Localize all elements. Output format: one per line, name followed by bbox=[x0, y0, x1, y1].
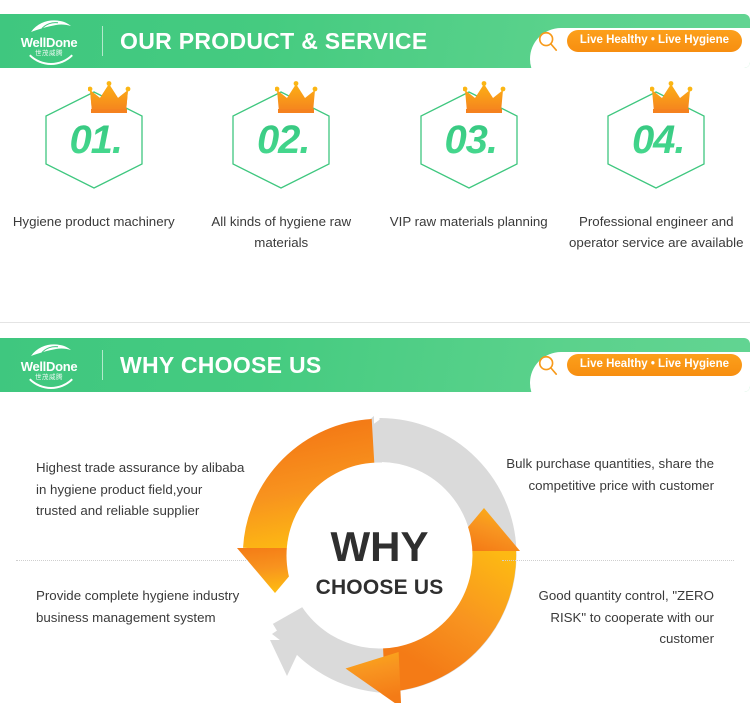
section-header-product-service: WellDone 世茂威腾 OUR PRODUCT & SERVICE Live… bbox=[0, 14, 750, 68]
dotted-divider-right bbox=[502, 560, 734, 562]
section-header-why-choose-us: WellDone 世茂威腾 WHY CHOOSE US Live Healthy… bbox=[0, 338, 750, 392]
blurb-bottom-right: Good quantity control, "ZERO RISK" to co… bbox=[502, 585, 714, 650]
card-caption: VIP raw materials planning bbox=[390, 212, 548, 233]
blurb-top-right: Bulk purchase quantities, share the comp… bbox=[502, 453, 714, 496]
hex-badge: 03. bbox=[417, 84, 521, 196]
header-divider bbox=[102, 350, 103, 380]
wheel-subtitle: CHOOSE US bbox=[316, 577, 444, 598]
wheel-title: WHY bbox=[331, 526, 429, 568]
page-root: WellDone 世茂威腾 OUR PRODUCT & SERVICE Live… bbox=[0, 0, 750, 711]
product-card[interactable]: 02. All kinds of hygiene raw materials bbox=[188, 84, 376, 253]
hex-badge: 04. bbox=[604, 84, 708, 196]
section-title: WHY CHOOSE US bbox=[120, 352, 322, 379]
blurb-bottom-left: Provide complete hygiene industry busine… bbox=[36, 585, 246, 628]
header-right-group: Live Healthy • Live Hygiene bbox=[537, 14, 742, 68]
product-card[interactable]: 03. VIP raw materials planning bbox=[375, 84, 563, 253]
crown-icon bbox=[650, 81, 696, 117]
logo-wordmark: WellDone bbox=[21, 360, 78, 373]
brand-logo[interactable]: WellDone 世茂威腾 bbox=[12, 18, 86, 64]
card-caption: Hygiene product machinery bbox=[13, 212, 175, 233]
card-caption: Professional engineer and operator servi… bbox=[569, 212, 744, 253]
product-card[interactable]: 04. Professional engineer and operator s… bbox=[563, 84, 750, 253]
brand-logo[interactable]: WellDone 世茂威腾 bbox=[12, 342, 86, 388]
logo-chinese-name: 世茂威腾 bbox=[35, 51, 63, 58]
product-card-list: 01. Hygiene product machinery bbox=[0, 84, 750, 253]
logo-chinese-name: 世茂威腾 bbox=[35, 375, 63, 382]
wheel-center-label: WHY CHOOSE US bbox=[232, 408, 527, 709]
header-right-group: Live Healthy • Live Hygiene bbox=[537, 338, 742, 392]
header-divider bbox=[102, 26, 103, 56]
logo-wordmark: WellDone bbox=[21, 36, 78, 49]
tagline-badge[interactable]: Live Healthy • Live Hygiene bbox=[567, 354, 742, 376]
tagline-badge[interactable]: Live Healthy • Live Hygiene bbox=[567, 30, 742, 52]
product-card[interactable]: 01. Hygiene product machinery bbox=[0, 84, 188, 253]
why-choose-us-body: ? bbox=[0, 400, 750, 711]
hex-badge: 01. bbox=[42, 84, 146, 196]
hex-badge: 02. bbox=[229, 84, 333, 196]
section-divider bbox=[0, 322, 750, 323]
section-title: OUR PRODUCT & SERVICE bbox=[120, 28, 427, 55]
crown-icon bbox=[463, 81, 509, 117]
dotted-divider-left bbox=[16, 560, 248, 562]
crown-icon bbox=[275, 81, 321, 117]
crown-icon bbox=[88, 81, 134, 117]
search-icon[interactable] bbox=[537, 354, 559, 376]
card-caption: All kinds of hygiene raw materials bbox=[194, 212, 369, 253]
blurb-top-left: Highest trade assurance by alibaba in hy… bbox=[36, 457, 246, 522]
search-icon[interactable] bbox=[537, 30, 559, 52]
